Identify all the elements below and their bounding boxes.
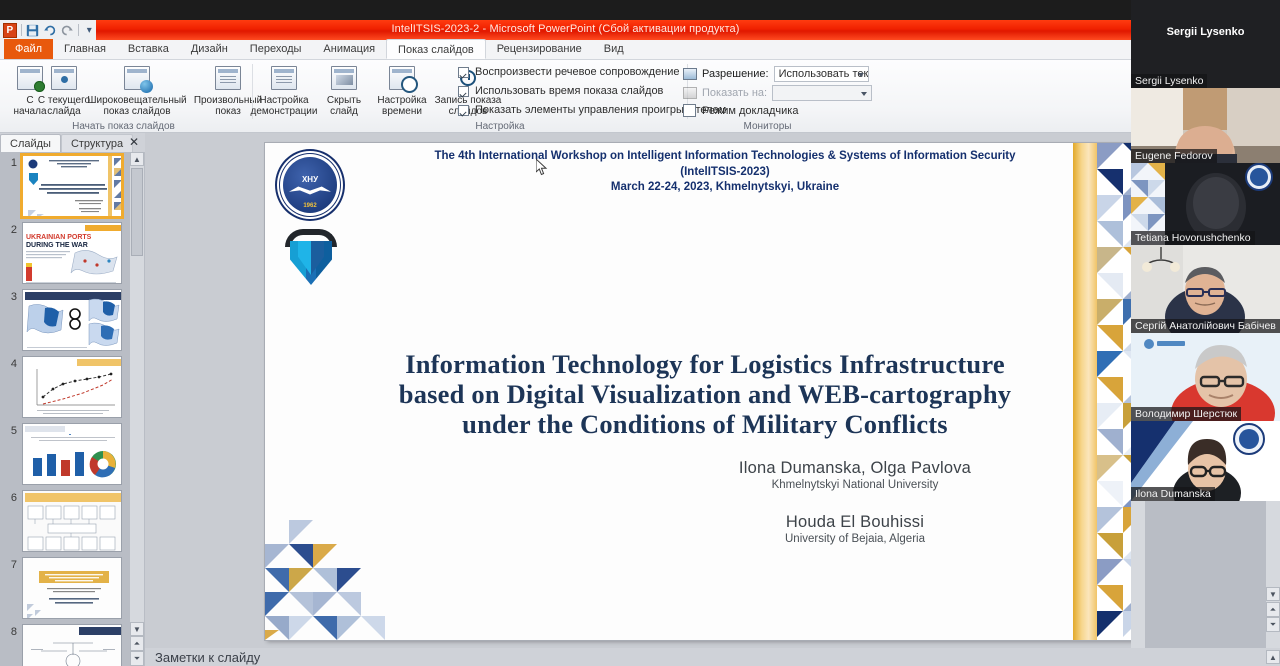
window-title: IntelITSIS-2023-2 - Microsoft PowerPoint… — [0, 23, 1131, 35]
checkbox-box[interactable] — [458, 67, 469, 78]
thumbnail-preview — [20, 153, 124, 219]
participant-name: Tetiana Hovorushchenko — [1131, 231, 1255, 245]
thumbnail-preview — [22, 423, 122, 485]
checkbox-box[interactable] — [683, 104, 696, 117]
tab-design[interactable]: Дизайн — [180, 39, 239, 59]
slide-thumbnail-8[interactable]: 8 — [0, 622, 145, 666]
next-slide-icon[interactable]: ⏷ — [1266, 617, 1280, 632]
slide-number: 1 — [3, 157, 17, 169]
slide-workshop-header: The 4th International Workshop on Intell… — [415, 149, 1035, 196]
thumbnail-preview — [22, 624, 122, 666]
video-tile-serhii-babichev[interactable]: Сергій Анатолійович Бабічев — [1131, 245, 1280, 333]
resolution-row[interactable]: Разрешение: Использовать теку... — [683, 66, 869, 82]
powerpoint-icon: P — [3, 23, 17, 38]
tab-insert[interactable]: Вставка — [117, 39, 180, 59]
checkbox-presenter-view[interactable]: Режим докладчика — [683, 104, 798, 117]
undo-icon[interactable] — [43, 23, 56, 38]
show-on-dropdown — [772, 85, 872, 101]
ribbon-group-label-monitors: Мониторы — [680, 121, 855, 132]
participant-name: Sergii Lysenko — [1131, 74, 1207, 88]
video-tile-sergii-lysenko[interactable]: Sergii Lysenko Sergii Lysenko — [1131, 0, 1280, 88]
thumbnail-preview — [22, 490, 122, 552]
checkbox-use-timings[interactable]: Использовать время показа слайдов — [458, 85, 663, 97]
show-on-icon — [683, 87, 697, 99]
ribbon-tab-bar[interactable]: Файл Главная Вставка Дизайн Переходы Ани… — [0, 40, 1131, 60]
ribbon-group-label-start: Начать показ слайдов — [0, 121, 247, 132]
checkbox-label: Использовать время показа слайдов — [475, 85, 663, 97]
thumbnail-preview — [22, 356, 122, 418]
participant-name: Володимир Шерстюк — [1131, 407, 1241, 421]
ribbon-group-start-slideshow: С начала С текущего слайда Широковещател… — [0, 60, 247, 133]
show-on-row: Показать на: — [683, 85, 872, 101]
save-icon[interactable] — [26, 23, 39, 38]
top-black-strip — [0, 0, 1131, 20]
slide-pane-scrollbar[interactable]: ▲ ▼ ⏶ ⏷ — [130, 152, 144, 666]
previous-slide-icon[interactable]: ⏶ — [1266, 602, 1280, 617]
notes-pane[interactable]: Заметки к слайду — [145, 648, 1131, 666]
notes-label: Заметки к слайду — [155, 650, 260, 665]
button-hide-slide[interactable]: Скрыть слайд — [319, 63, 369, 117]
slide-thumbnail-pane[interactable]: 1 — [0, 152, 145, 666]
divider — [21, 24, 22, 36]
workshop-line-2: (IntelITSIS-2023) — [415, 165, 1035, 181]
slide-thumbnail-7[interactable]: 7 — [0, 555, 145, 622]
slide-thumbnail-2[interactable]: 2 UKRAINIAN PORTS DURING THE WAR — [0, 220, 145, 287]
checkbox-box[interactable] — [458, 86, 469, 97]
slide-thumbnail-6[interactable]: 6 — [0, 488, 145, 555]
ribbon-group-monitors: Разрешение: Использовать теку... Показат… — [680, 60, 855, 133]
participant-name: Сергій Анатолійович Бабічев — [1131, 319, 1280, 333]
setup-show-icon — [250, 63, 318, 93]
scroll-up-icon[interactable]: ▲ — [1266, 650, 1280, 664]
slide-number: 3 — [3, 291, 17, 303]
slide-number: 4 — [3, 358, 17, 370]
pane-tab-slides[interactable]: Слайды — [0, 134, 61, 152]
thumbnail-preview: UKRAINIAN PORTS DURING THE WAR — [22, 222, 122, 284]
slide-title: Information Technology for Logistics Inf… — [325, 349, 1085, 439]
slide-pane-tabs[interactable]: Слайды Структура — [0, 133, 145, 152]
slide-canvas-area[interactable]: ХНУ 1962 The 4th International Workshop … — [145, 133, 1131, 666]
tab-animations[interactable]: Анимация — [312, 39, 386, 59]
tab-transitions[interactable]: Переходы — [239, 39, 313, 59]
ribbon-group-setup: Настройка демонстрации Скрыть слайд Наст… — [250, 60, 680, 133]
close-pane-icon[interactable]: ✕ — [127, 135, 141, 149]
slide-authors: Ilona Dumanska, Olga Pavlova Khmelnytsky… — [645, 459, 1065, 545]
video-tile-volodymyr-sherstiuk[interactable]: Володимир Шерстюк — [1131, 333, 1280, 421]
title-bar: IntelITSIS-2023-2 - Microsoft PowerPoint… — [0, 20, 1131, 40]
slide-thumbnail-4[interactable]: 4 — [0, 354, 145, 421]
slide-number: 7 — [3, 559, 17, 571]
scrollbar-thumb[interactable] — [131, 168, 143, 256]
svg-text:DURING THE WAR: DURING THE WAR — [26, 242, 88, 249]
powerpoint-window: IntelITSIS-2023-2 - Microsoft PowerPoint… — [0, 0, 1131, 666]
participant-name: Ilona Dumanska — [1131, 487, 1215, 501]
checkbox-play-narrations[interactable]: Воспроизвести речевое сопровождение — [458, 66, 680, 78]
grey-fill — [1145, 501, 1266, 648]
workshop-line-1: The 4th International Workshop on Intell… — [415, 149, 1035, 165]
hide-slide-icon — [319, 63, 369, 93]
workshop-line-3: March 22-24, 2023, Khmelnytskyi, Ukraine — [415, 180, 1035, 196]
video-tile-tetiana-hovorushchenko[interactable]: Tetiana Hovorushchenko — [1131, 163, 1280, 245]
slide-number: 8 — [3, 626, 17, 638]
tab-slideshow[interactable]: Показ слайдов — [386, 39, 486, 59]
quick-access-toolbar[interactable]: P ▾ — [0, 20, 96, 40]
emblem-year: 1962 — [275, 203, 345, 209]
checkbox-label: Режим докладчика — [702, 105, 798, 117]
thumbnail-preview — [22, 289, 122, 351]
resolution-dropdown[interactable]: Использовать теку... — [774, 66, 869, 82]
status-bar-segment — [1131, 648, 1280, 666]
checkbox-label: Воспроизвести речевое сопровождение — [475, 66, 680, 78]
button-setup-show[interactable]: Настройка демонстрации — [250, 63, 318, 117]
title-line-1: Information Technology for Logistics Inf… — [325, 349, 1085, 379]
tab-review[interactable]: Рецензирование — [486, 39, 593, 59]
ribbon-group-label-setup: Настройка — [370, 121, 630, 132]
customize-qat-icon[interactable]: ▾ — [83, 23, 96, 38]
scroll-down-icon[interactable]: ▼ — [1266, 587, 1280, 601]
tab-home[interactable]: Главная — [53, 39, 117, 59]
university-emblem-icon: ХНУ 1962 — [275, 149, 345, 221]
slide-number: 6 — [3, 492, 17, 504]
previous-slide-icon[interactable]: ⏶ — [130, 636, 144, 651]
affiliation-2: University of Bejaia, Algeria — [645, 533, 1065, 545]
video-tile-ilona-dumanska[interactable]: Ilona Dumanska — [1131, 421, 1280, 501]
author-1: Ilona Dumanska, Olga Pavlova — [645, 459, 1065, 478]
broadcast-icon — [83, 63, 191, 93]
lower-grey-area: ▼ ⏶ ⏷ ▲ — [1131, 501, 1280, 666]
scroll-down-icon[interactable]: ▼ — [130, 622, 144, 636]
checkbox-box[interactable] — [458, 105, 469, 116]
svg-text:UKRAINIAN PORTS: UKRAINIAN PORTS — [26, 234, 92, 241]
scroll-up-icon[interactable]: ▲ — [130, 152, 144, 166]
divider — [78, 24, 79, 36]
slide-triangle-pattern-bottom-left — [265, 520, 465, 640]
resolution-label: Разрешение: — [702, 68, 769, 80]
slide-thumbnail-1[interactable]: 1 — [0, 153, 145, 220]
slide-number: 5 — [3, 425, 17, 437]
thumbnail-preview — [22, 557, 122, 619]
rehearse-timings-icon — [370, 63, 434, 93]
author-2: Houda El Bouhissi — [645, 513, 1065, 532]
button-broadcast-slideshow[interactable]: Широковещательный показ слайдов — [83, 63, 191, 117]
video-conference-panel[interactable]: Sergii Lysenko Sergii Lysenko Eugene Fed… — [1131, 0, 1280, 666]
slide-number: 2 — [3, 224, 17, 236]
emblem-text: ХНУ — [275, 175, 345, 184]
title-line-3: under the Conditions of Military Conflic… — [325, 409, 1085, 439]
show-on-label: Показать на: — [702, 87, 767, 99]
slide-thumbnail-3[interactable]: 3 — [0, 287, 145, 354]
affiliation-1: Khmelnytskyi National University — [645, 479, 1065, 491]
current-slide[interactable]: ХНУ 1962 The 4th International Workshop … — [265, 143, 1131, 640]
resolution-icon — [683, 68, 697, 80]
ribbon: С начала С текущего слайда Широковещател… — [0, 60, 1131, 133]
active-speaker-name: Sergii Lysenko — [1131, 26, 1280, 38]
title-line-2: based on Digital Visualization and WEB-c… — [325, 379, 1085, 409]
slide-thumbnail-5[interactable]: 5 — [0, 421, 145, 488]
slide-gold-band-decoration — [1073, 143, 1097, 640]
slide-triangle-pattern-right — [1097, 143, 1131, 640]
shield-logo-icon — [285, 229, 337, 287]
tab-file[interactable]: Файл — [4, 39, 53, 59]
redo-icon[interactable] — [60, 23, 73, 38]
participant-name: Eugene Fedorov — [1131, 149, 1217, 163]
button-rehearse-timings[interactable]: Настройка времени — [370, 63, 434, 117]
pane-tab-outline[interactable]: Структура — [61, 134, 133, 152]
window-edge — [1131, 501, 1145, 648]
tab-view[interactable]: Вид — [593, 39, 635, 59]
next-slide-icon[interactable]: ⏷ — [130, 651, 144, 666]
video-tile-eugene-fedorov[interactable]: Eugene Fedorov — [1131, 88, 1280, 163]
